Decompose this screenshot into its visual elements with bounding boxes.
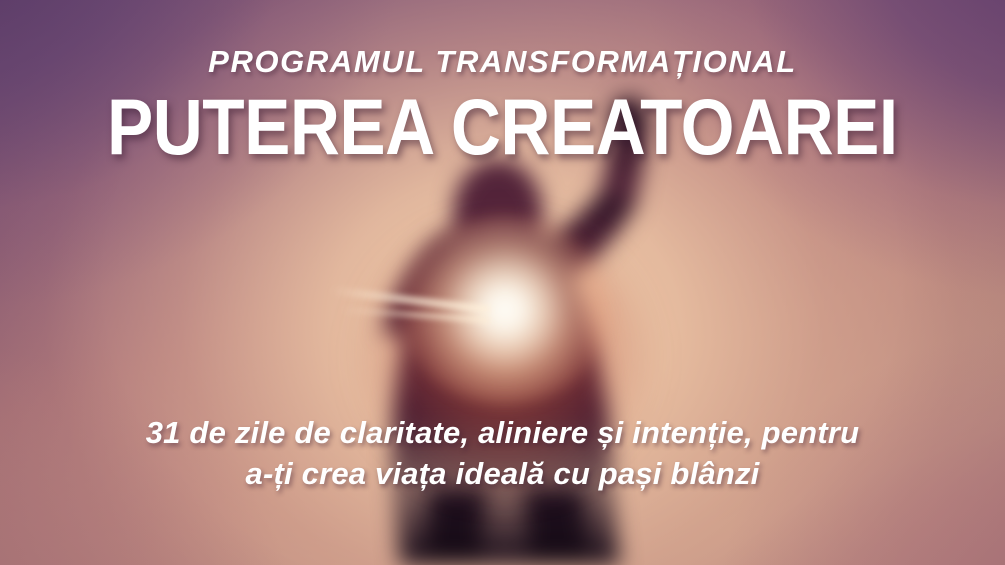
tagline-line-2: a-ți crea viața ideală cu pași blânzi: [0, 453, 1005, 494]
tagline: 31 de zile de claritate, aliniere și int…: [0, 412, 1005, 494]
promo-poster: PROGRAMUL TRANSFORMAȚIONAL PUTEREA CREAT…: [0, 0, 1005, 565]
page-title: PUTEREA CREATOAREI: [107, 87, 898, 169]
tagline-line-1: 31 de zile de claritate, aliniere și int…: [0, 412, 1005, 453]
program-eyebrow: PROGRAMUL TRANSFORMAȚIONAL: [208, 44, 797, 80]
